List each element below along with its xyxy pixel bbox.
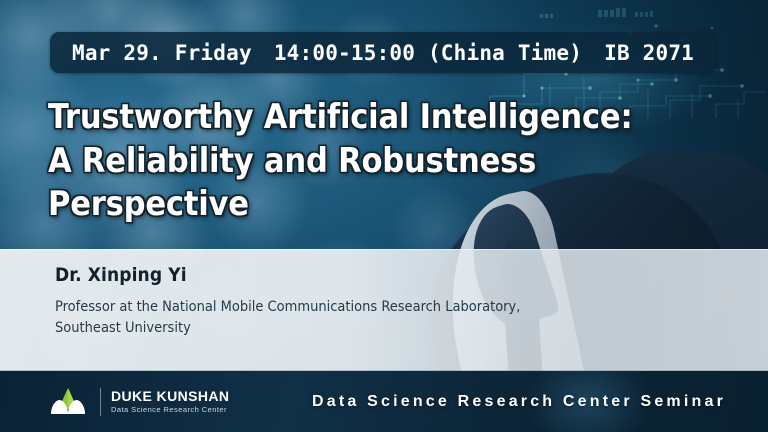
- speaker-panel: Dr. Xinping Yi Professor at the National…: [0, 249, 768, 371]
- logo-divider: [100, 388, 101, 416]
- speaker-affiliation: Professor at the National Mobile Communi…: [55, 297, 728, 339]
- event-info-bar: Mar 29. Friday 14:00-15:00 (China Time) …: [50, 32, 716, 73]
- talk-title-line-2: A Reliability and Robustness: [48, 140, 728, 184]
- speaker-name: Dr. Xinping Yi: [55, 264, 728, 286]
- seminar-series-label: Data Science Research Center Seminar: [312, 393, 726, 411]
- speaker-affiliation-line-1: Professor at the National Mobile Communi…: [55, 297, 728, 318]
- event-date: Mar 29. Friday: [72, 41, 252, 65]
- speaker-affiliation-line-2: Southeast University: [55, 318, 728, 339]
- speaker-panel-content: Dr. Xinping Yi Professor at the National…: [55, 264, 728, 339]
- logo-subtitle: Data Science Research Center: [111, 406, 229, 414]
- talk-title: Trustworthy Artificial Intelligence: A R…: [48, 96, 728, 227]
- seminar-poster: Mar 29. Friday 14:00-15:00 (China Time) …: [0, 0, 768, 432]
- event-room: IB 2071: [604, 41, 694, 65]
- logo-text-block: DUKE KUNSHAN Data Science Research Cente…: [111, 389, 229, 414]
- talk-title-line-3: Perspective: [48, 183, 728, 227]
- logo-title: DUKE KUNSHAN: [111, 389, 229, 403]
- event-time: 14:00-15:00 (China Time): [274, 41, 582, 65]
- footer-content: DUKE KUNSHAN Data Science Research Cente…: [0, 371, 768, 432]
- duke-kunshan-logo: DUKE KUNSHAN Data Science Research Cente…: [48, 387, 229, 417]
- talk-title-line-1: Trustworthy Artificial Intelligence:: [48, 96, 728, 140]
- footer-bar: DUKE KUNSHAN Data Science Research Cente…: [0, 371, 768, 432]
- duke-kunshan-mark-icon: [48, 387, 88, 417]
